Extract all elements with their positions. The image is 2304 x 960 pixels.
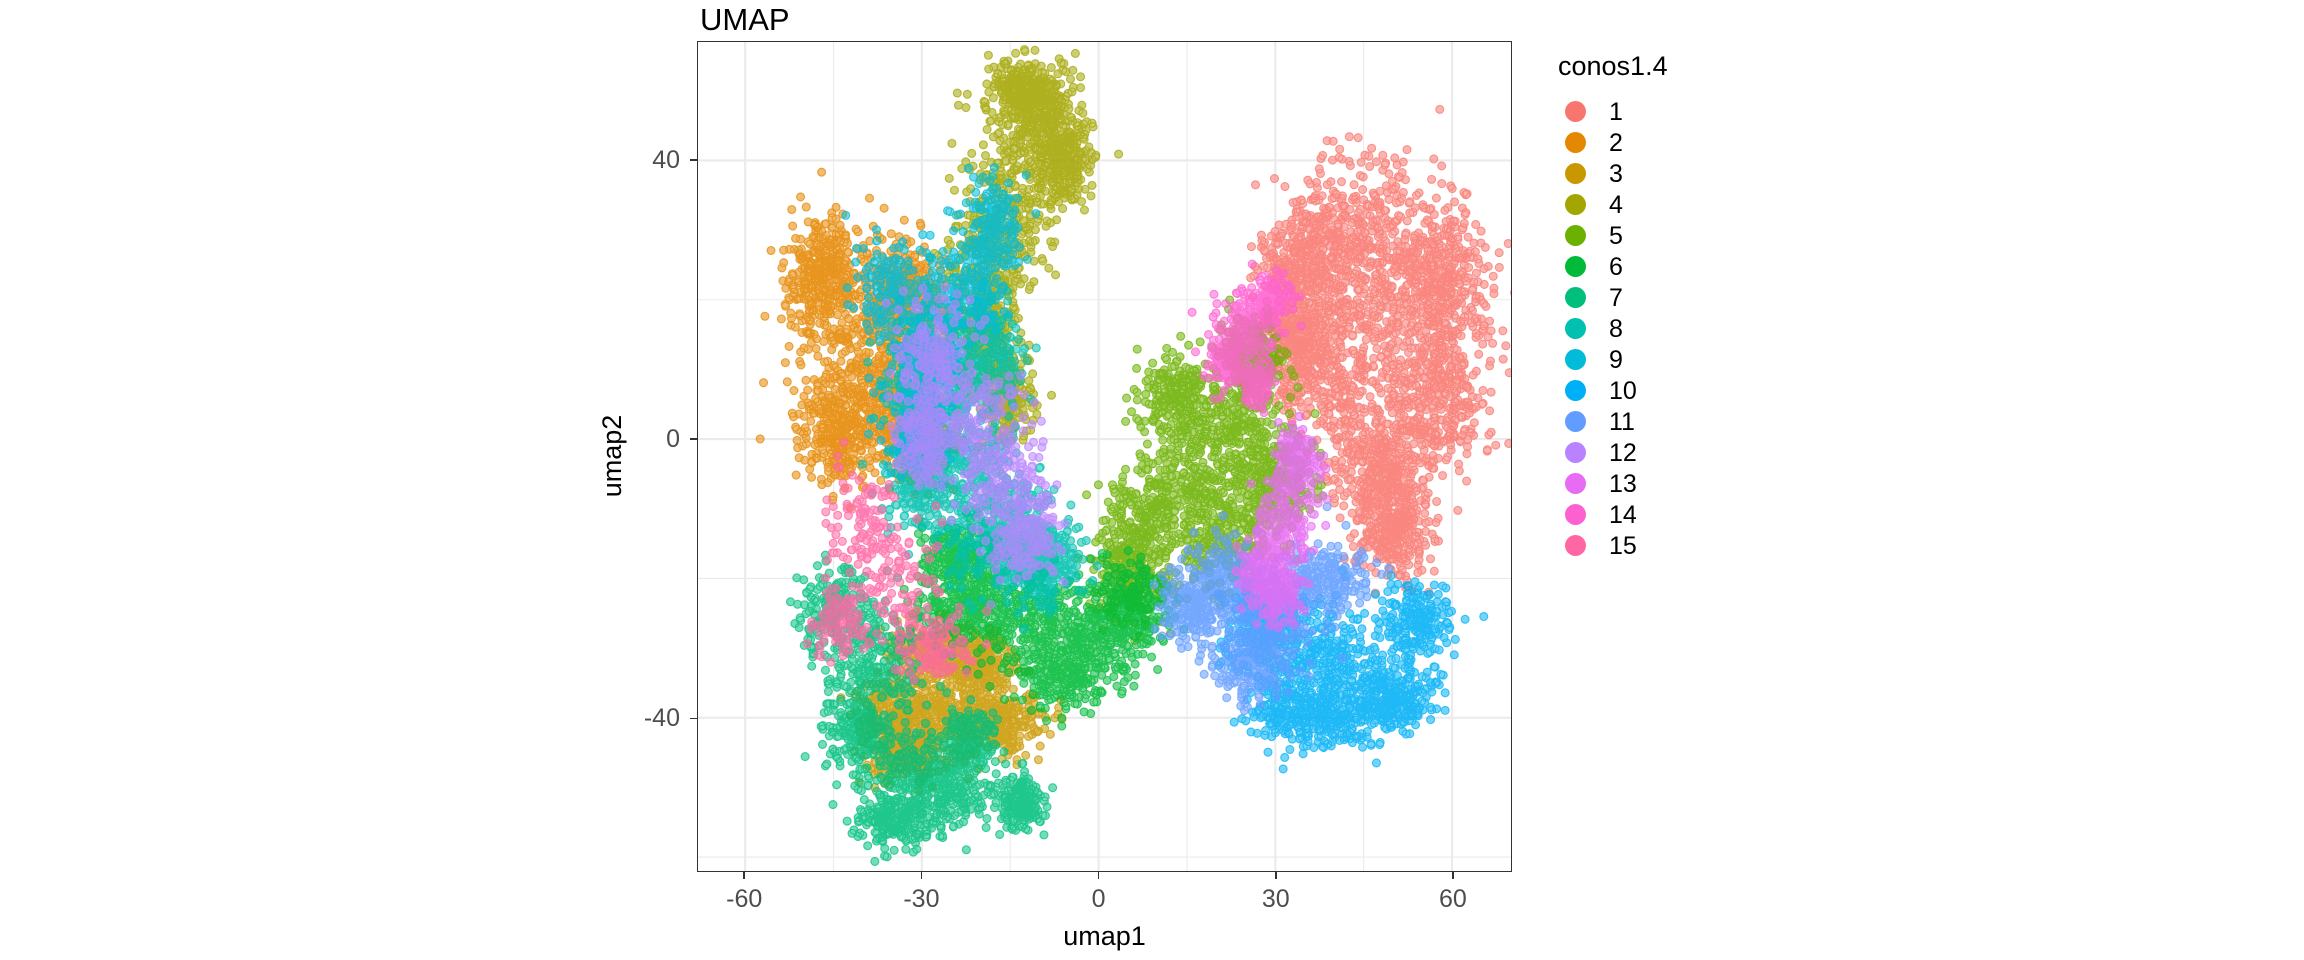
legend-item-label: 5 <box>1609 222 1623 250</box>
legend-key-swatch <box>1558 406 1593 437</box>
legend-item-11[interactable]: 11 <box>1558 406 1668 437</box>
x-tick-label: 0 <box>1092 885 1106 913</box>
legend-item-7[interactable]: 7 <box>1558 282 1668 313</box>
legend-item-label: 6 <box>1609 253 1623 281</box>
legend-item-label: 4 <box>1609 191 1623 219</box>
legend-item-5[interactable]: 5 <box>1558 220 1668 251</box>
legend-color-dot-icon <box>1565 225 1586 246</box>
legend-item-4[interactable]: 4 <box>1558 189 1668 220</box>
legend-key-swatch <box>1558 468 1593 499</box>
legend-key-swatch <box>1558 96 1593 127</box>
legend-item-label: 13 <box>1609 470 1637 498</box>
x-tick-label: 30 <box>1262 885 1290 913</box>
legend-key-swatch <box>1558 437 1593 468</box>
legend-item-label: 14 <box>1609 501 1637 529</box>
y-tick-mark <box>690 438 697 440</box>
legend-color-dot-icon <box>1565 287 1586 308</box>
scatter-points <box>698 42 1511 871</box>
legend-item-label: 11 <box>1609 408 1635 436</box>
legend-color-dot-icon <box>1565 132 1586 153</box>
legend-color-dot-icon <box>1565 163 1586 184</box>
legend-title: conos1.4 <box>1558 50 1668 82</box>
x-tick-mark <box>1452 872 1454 879</box>
legend-color-dot-icon <box>1565 535 1586 556</box>
legend-key-swatch <box>1558 282 1593 313</box>
y-tick-mark <box>690 718 697 720</box>
legend-item-label: 12 <box>1609 439 1637 467</box>
legend-color-dot-icon <box>1565 411 1586 432</box>
x-axis-title: umap1 <box>697 920 1512 952</box>
x-tick-label: -60 <box>726 885 762 913</box>
legend-item-8[interactable]: 8 <box>1558 313 1668 344</box>
y-tick-label: 40 <box>602 146 680 174</box>
y-tick-label: -40 <box>602 704 680 732</box>
legend-color-dot-icon <box>1565 504 1586 525</box>
legend-color-dot-icon <box>1565 349 1586 370</box>
legend-item-label: 15 <box>1609 532 1637 560</box>
page-title: UMAP <box>700 2 790 38</box>
plot-panel <box>697 41 1512 872</box>
umap-scatter-figure: UMAP -60-3003060400-40 umap1 umap2 conos… <box>0 0 2304 960</box>
legend-color-dot-icon <box>1565 101 1586 122</box>
legend-item-label: 9 <box>1609 346 1623 374</box>
legend-color-dot-icon <box>1565 442 1586 463</box>
legend-item-9[interactable]: 9 <box>1558 344 1668 375</box>
legend-item-10[interactable]: 10 <box>1558 375 1668 406</box>
y-tick-mark <box>690 159 697 161</box>
legend-key-swatch <box>1558 375 1593 406</box>
legend-item-15[interactable]: 15 <box>1558 530 1668 561</box>
legend-item-label: 1 <box>1609 98 1623 126</box>
legend-key-swatch <box>1558 530 1593 561</box>
x-tick-label: 60 <box>1439 885 1467 913</box>
legend-item-14[interactable]: 14 <box>1558 499 1668 530</box>
legend-item-label: 2 <box>1609 129 1623 157</box>
legend-key-swatch <box>1558 189 1593 220</box>
legend-color-dot-icon <box>1565 473 1586 494</box>
x-tick-mark <box>1275 872 1277 879</box>
x-tick-mark <box>1098 872 1100 879</box>
x-tick-mark <box>743 872 745 879</box>
legend-items: 123456789101112131415 <box>1558 96 1668 561</box>
legend-key-swatch <box>1558 344 1593 375</box>
legend-item-label: 3 <box>1609 160 1623 188</box>
legend-item-13[interactable]: 13 <box>1558 468 1668 499</box>
legend-item-1[interactable]: 1 <box>1558 96 1668 127</box>
legend-color-dot-icon <box>1565 194 1586 215</box>
legend-key-swatch <box>1558 158 1593 189</box>
legend-color-dot-icon <box>1565 380 1586 401</box>
legend: conos1.4 123456789101112131415 <box>1558 50 1668 561</box>
x-tick-label: -30 <box>903 885 939 913</box>
legend-item-label: 8 <box>1609 315 1623 343</box>
legend-key-swatch <box>1558 127 1593 158</box>
legend-item-12[interactable]: 12 <box>1558 437 1668 468</box>
legend-item-label: 7 <box>1609 284 1623 312</box>
legend-item-6[interactable]: 6 <box>1558 251 1668 282</box>
legend-key-swatch <box>1558 313 1593 344</box>
legend-color-dot-icon <box>1565 318 1586 339</box>
y-axis-title: umap2 <box>596 415 628 498</box>
legend-key-swatch <box>1558 220 1593 251</box>
legend-item-2[interactable]: 2 <box>1558 127 1668 158</box>
x-tick-mark <box>921 872 923 879</box>
legend-key-swatch <box>1558 499 1593 530</box>
legend-color-dot-icon <box>1565 256 1586 277</box>
legend-key-swatch <box>1558 251 1593 282</box>
legend-item-label: 10 <box>1609 377 1637 405</box>
legend-item-3[interactable]: 3 <box>1558 158 1668 189</box>
